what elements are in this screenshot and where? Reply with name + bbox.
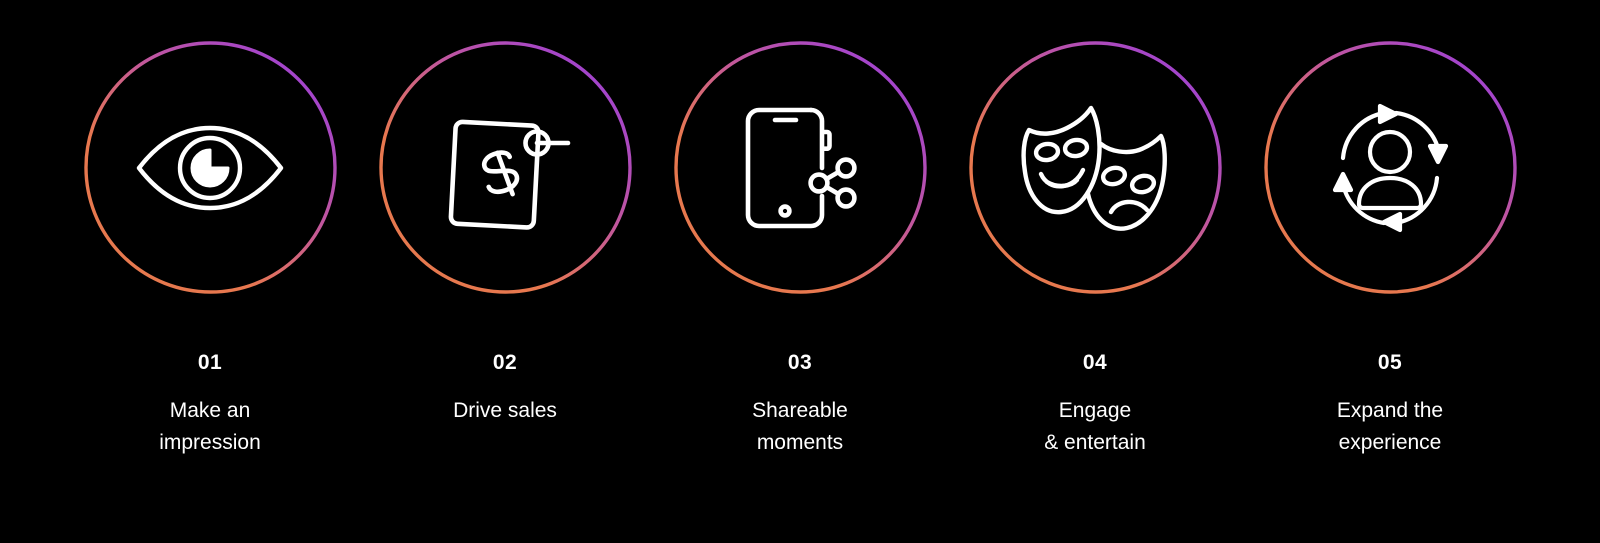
step-number: 02 [358,352,653,373]
step-card-04[interactable]: 04 Engage & entertain [948,0,1243,543]
smartphone-share-icon [674,41,927,294]
step-number: 03 [653,352,948,373]
step-card-05[interactable]: 05 Expand the experience [1243,0,1538,543]
price-tag-dollar-icon [379,41,632,294]
step-caption-02: 02 Drive sales [358,352,653,427]
step-number: 04 [948,352,1243,373]
person-refresh-cycle-icon [1264,41,1517,294]
step-caption-03: 03 Shareable moments [653,352,948,458]
step-card-02[interactable]: 02 Drive sales [358,0,653,543]
step-ring-01 [84,41,337,294]
steps-row: 01 Make an impression [0,0,1600,543]
step-ring-04 [969,41,1222,294]
step-ring-05 [1264,41,1517,294]
infographic-board: 01 Make an impression [0,0,1600,543]
step-ring-02 [379,41,632,294]
step-label: Expand the experience [1243,395,1538,458]
step-card-03[interactable]: 03 Shareable moments [653,0,948,543]
step-caption-04: 04 Engage & entertain [948,352,1243,458]
step-ring-03 [674,41,927,294]
step-label: Shareable moments [653,395,948,458]
step-label: Make an impression [63,395,358,458]
step-label: Engage & entertain [948,395,1243,458]
step-caption-01: 01 Make an impression [63,352,358,458]
step-card-01[interactable]: 01 Make an impression [63,0,358,543]
step-label: Drive sales [358,395,653,427]
eye-icon [84,41,337,294]
step-number: 01 [63,352,358,373]
step-number: 05 [1243,352,1538,373]
step-caption-05: 05 Expand the experience [1243,352,1538,458]
theater-masks-icon [969,41,1222,294]
